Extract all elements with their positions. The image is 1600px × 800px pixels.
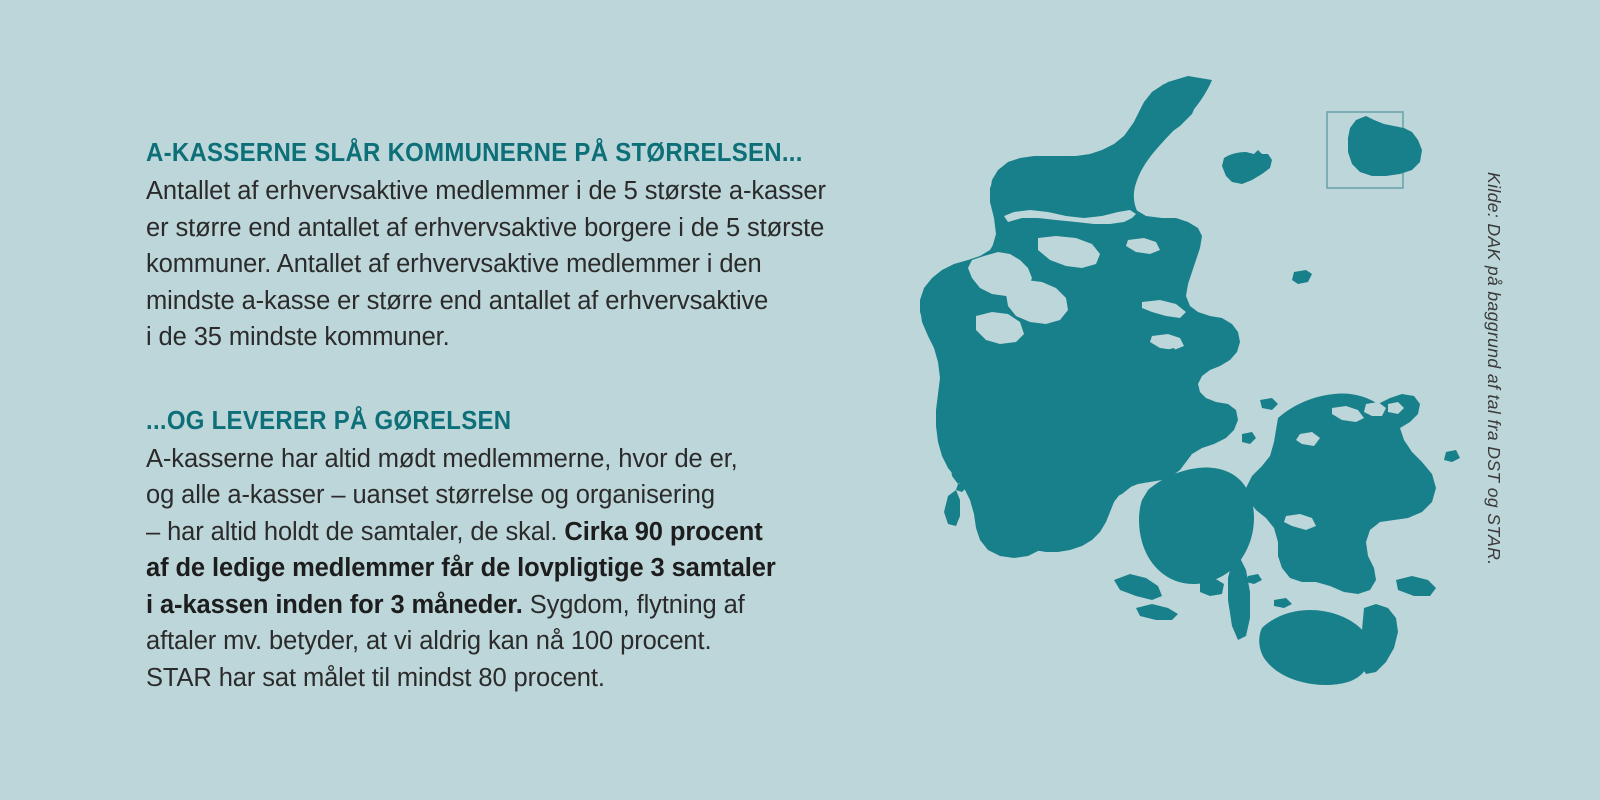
infographic-canvas: A-KASSERNE SLÅR KOMMUNERNE PÅ STØRRELSEN… <box>0 0 1600 800</box>
island-aeroe <box>1136 604 1178 620</box>
island-falster <box>1360 604 1398 674</box>
block-2-kicker: ...OG LEVERER PÅ GØRELSEN <box>146 406 860 436</box>
block-1-line-1: Antallet af erhvervsaktive medlemmer i d… <box>146 177 826 205</box>
block-2-line-2: og alle a-kasser – uanset størrelse og o… <box>146 481 715 509</box>
island-lolland <box>1259 610 1370 685</box>
island-sejeroe <box>1242 432 1256 444</box>
block-2-line-5: i a-kassen inden for 3 måneder. Sygdom, … <box>146 591 745 619</box>
denmark-map <box>880 70 1460 710</box>
source-credit: Kilde: DAK på baggrund af tal fra DST og… <box>1483 172 1504 632</box>
block-2-emphasis-1: Cirka 90 procent <box>564 518 762 546</box>
block-2-line-4: af de ledige medlemmer får de lovpligtig… <box>146 554 776 582</box>
block-1-line-2: er større end antallet af erhvervsaktive… <box>146 214 824 242</box>
block-1-line-5: i de 35 mindste kommuner. <box>146 323 450 351</box>
block-2-line-3: – har altid holdt de samtaler, de skal. … <box>146 518 763 546</box>
island-agersoe <box>1246 574 1262 584</box>
block-2-line-6: aftaler mv. betyder, at vi aldrig kan nå… <box>146 627 711 655</box>
island-funen-tail <box>1114 574 1162 600</box>
island-orroe <box>1260 398 1278 410</box>
text-block-1: A-KASSERNE SLÅR KOMMUNERNE PÅ STØRRELSEN… <box>146 138 906 356</box>
island-mandoe <box>956 482 966 492</box>
island-bornholm <box>1348 116 1422 176</box>
text-block-2: ...OG LEVERER PÅ GØRELSEN A-kasserne har… <box>146 406 906 697</box>
block-1-line-3: kommuner. Antallet af erhvervsaktive med… <box>146 250 762 278</box>
block-2-body: A-kasserne har altid mødt medlemmerne, h… <box>146 441 906 697</box>
island-anholt <box>1292 270 1312 284</box>
map-landmass-group <box>920 76 1460 685</box>
text-column: A-KASSERNE SLÅR KOMMUNERNE PÅ STØRRELSEN… <box>146 138 906 696</box>
island-laesoe <box>1222 150 1272 184</box>
block-1-kicker: A-KASSERNE SLÅR KOMMUNERNE PÅ STØRRELSEN… <box>146 138 860 168</box>
block-2-line-7: STAR har sat målet til mindst 80 procent… <box>146 664 605 692</box>
island-fejoe <box>1274 598 1292 608</box>
island-zealand <box>1246 393 1436 594</box>
island-saltholm <box>1444 450 1460 462</box>
block-1-line-4: mindste a-kasse er større end antallet a… <box>146 287 768 315</box>
island-langeland <box>1228 558 1250 640</box>
block-2-line-1: A-kasserne har altid mødt medlemmerne, h… <box>146 445 738 473</box>
block-2-emphasis-3: i a-kassen inden for 3 måneder. <box>146 591 523 619</box>
island-moen <box>1396 576 1436 596</box>
island-roemoe <box>944 490 960 526</box>
block-2-emphasis-2: af de ledige medlemmer får de lovpligtig… <box>146 554 776 582</box>
block-1-body: Antallet af erhvervsaktive medlemmer i d… <box>146 173 906 356</box>
